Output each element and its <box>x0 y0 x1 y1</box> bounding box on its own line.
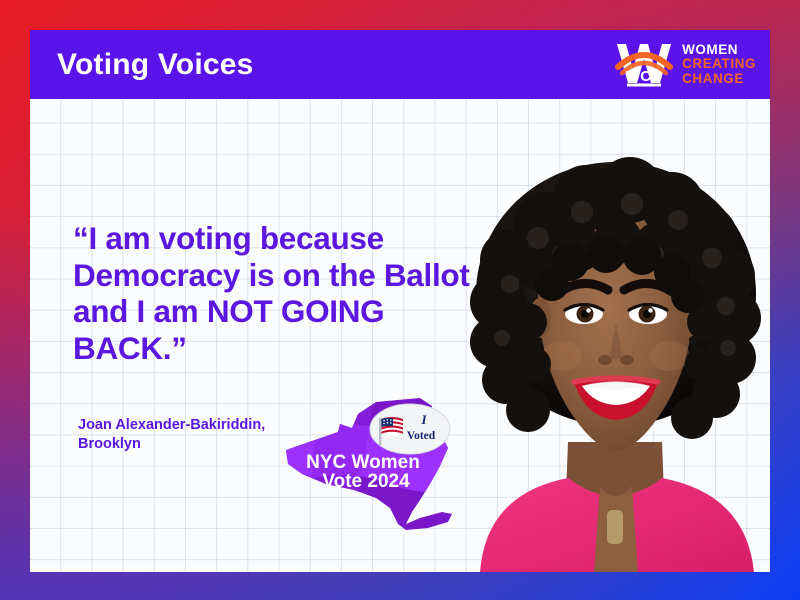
sticker-text-voted: Voted <box>407 430 436 442</box>
logo-line-creating: CREATING <box>682 57 756 71</box>
logo-line-women: WOMEN <box>682 43 756 57</box>
wcc-monogram-icon: WCC <box>613 37 675 92</box>
logo-line-change: CHANGE <box>682 72 756 86</box>
header-bar: Voting Voices WCC WOMEN CREATING CHANGE <box>30 30 770 99</box>
wcc-logo[interactable]: WCC WOMEN CREATING CHANGE <box>613 35 756 94</box>
quote-attribution: Joan Alexander-Bakiriddin, Brooklyn <box>78 416 265 453</box>
poster-canvas: Voting Voices WCC WOMEN CREATING CHANGE <box>0 0 800 600</box>
badge-line-2: Vote 2024 <box>322 471 410 492</box>
ny-vote-badge: I Voted NYC Women Vote 2024 <box>280 388 475 538</box>
attribution-name: Joan Alexander-Bakiriddin, <box>78 416 265 435</box>
page-title: Voting Voices <box>57 48 254 82</box>
i-voted-sticker: I Voted <box>370 404 450 454</box>
content-card: Voting Voices WCC WOMEN CREATING CHANGE <box>30 30 770 572</box>
svg-text:WCC: WCC <box>626 68 662 85</box>
portrait-image <box>450 142 770 572</box>
sticker-text-i: I <box>420 412 427 427</box>
attribution-location: Brooklyn <box>78 435 265 454</box>
badge-line-1: NYC Women <box>306 452 420 473</box>
logo-wordmark: WOMEN CREATING CHANGE <box>682 43 756 86</box>
quote-text: “I am voting because Democracy is on the… <box>73 220 473 367</box>
